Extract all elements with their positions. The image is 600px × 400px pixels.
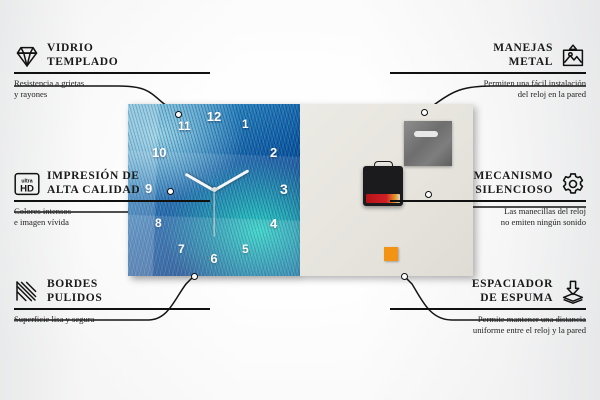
feature-desc-line2: e imagen vívida (14, 217, 210, 229)
clock-numeral: 10 (152, 146, 166, 159)
clock-numeral: 2 (270, 146, 277, 159)
hands-pin (212, 187, 217, 192)
second-hand (213, 191, 214, 237)
feature-mecanismo-silencioso: MECANISMO SILENCIOSO Las manecillas del … (390, 170, 586, 229)
feature-desc-line1: Superficie lisa y segura (14, 314, 210, 326)
infographic-canvas: 12 1 2 3 4 5 6 7 8 9 10 11 (0, 0, 600, 400)
feature-rule (14, 308, 210, 310)
feature-desc-line2: no emiten ningún sonido (390, 217, 586, 229)
clock-numeral: 1 (242, 118, 249, 130)
feature-rule (390, 200, 586, 202)
connector-dot-manejas (421, 109, 428, 116)
clock-numeral: 4 (270, 217, 277, 230)
feature-bordes-pulidos: BORDES PULIDOS Superficie lisa y segura (14, 278, 210, 325)
feature-desc-line1: Las manecillas del reloj (390, 206, 586, 218)
clock-numeral: 3 (280, 182, 288, 196)
feature-desc-line1: Permiten una fácil instalación (390, 78, 586, 90)
feature-title-line2: METAL (493, 56, 553, 70)
feature-title-line2: DE ESPUMA (472, 292, 553, 306)
feature-desc-line1: Resistencia a grietas (14, 78, 210, 90)
svg-text:HD: HD (20, 183, 34, 194)
feature-manejas-metal: MANEJAS METAL Permiten una fácil instala… (390, 42, 586, 101)
feature-title-line2: TEMPLADO (47, 56, 118, 70)
feature-title-line2: ALTA CALIDAD (47, 184, 140, 198)
feature-rule (390, 72, 586, 74)
feature-impresion-alta-calidad: ultra HD IMPRESIÓN DE ALTA CALIDAD Color… (14, 170, 210, 229)
clock-numeral: 6 (210, 252, 217, 265)
feature-rule (14, 200, 210, 202)
feature-rule (390, 308, 586, 310)
polished-edges-icon (14, 279, 40, 305)
feature-desc-line2: y rayones (14, 89, 210, 101)
feature-rule (14, 72, 210, 74)
gear-icon (560, 171, 586, 197)
metal-hanger (404, 121, 452, 166)
feature-title-line1: VIDRIO (47, 42, 118, 56)
mechanism-shaft (374, 161, 393, 168)
clock-numeral: 7 (178, 243, 185, 255)
clock-numeral: 11 (178, 120, 191, 132)
feature-title-line1: IMPRESIÓN DE (47, 170, 140, 184)
picture-frame-icon (560, 43, 586, 69)
feature-desc-line1: Colores intensos (14, 206, 210, 218)
clock-numeral: 5 (242, 243, 249, 255)
feature-title-line1: ESPACIADOR (472, 278, 553, 292)
feature-desc-line2: del reloj en la pared (390, 89, 586, 101)
feature-title-line1: MANEJAS (493, 42, 553, 56)
connector-dot-vidrio-templado (175, 111, 182, 118)
feature-desc-line2: uniforme entre el reloj y la pared (390, 325, 586, 337)
feature-title-line1: BORDES (47, 278, 102, 292)
feature-title-line2: SILENCIOSO (473, 184, 553, 198)
foam-spacer (384, 247, 398, 261)
ultra-hd-icon: ultra HD (14, 171, 40, 197)
minute-hand (213, 169, 249, 192)
press-down-icon (560, 279, 586, 305)
feature-espaciador-espuma: ESPACIADOR DE ESPUMA Permite mantener un… (390, 278, 586, 337)
feature-title-line1: MECANISMO (473, 170, 553, 184)
diamond-icon (14, 43, 40, 69)
feature-title-line2: PULIDOS (47, 292, 102, 306)
feature-desc-line1: Permite mantener una distancia (390, 314, 586, 326)
feature-vidrio-templado: VIDRIO TEMPLADO Resistencia a grietas y … (14, 42, 210, 101)
clock-numeral: 12 (207, 110, 221, 123)
